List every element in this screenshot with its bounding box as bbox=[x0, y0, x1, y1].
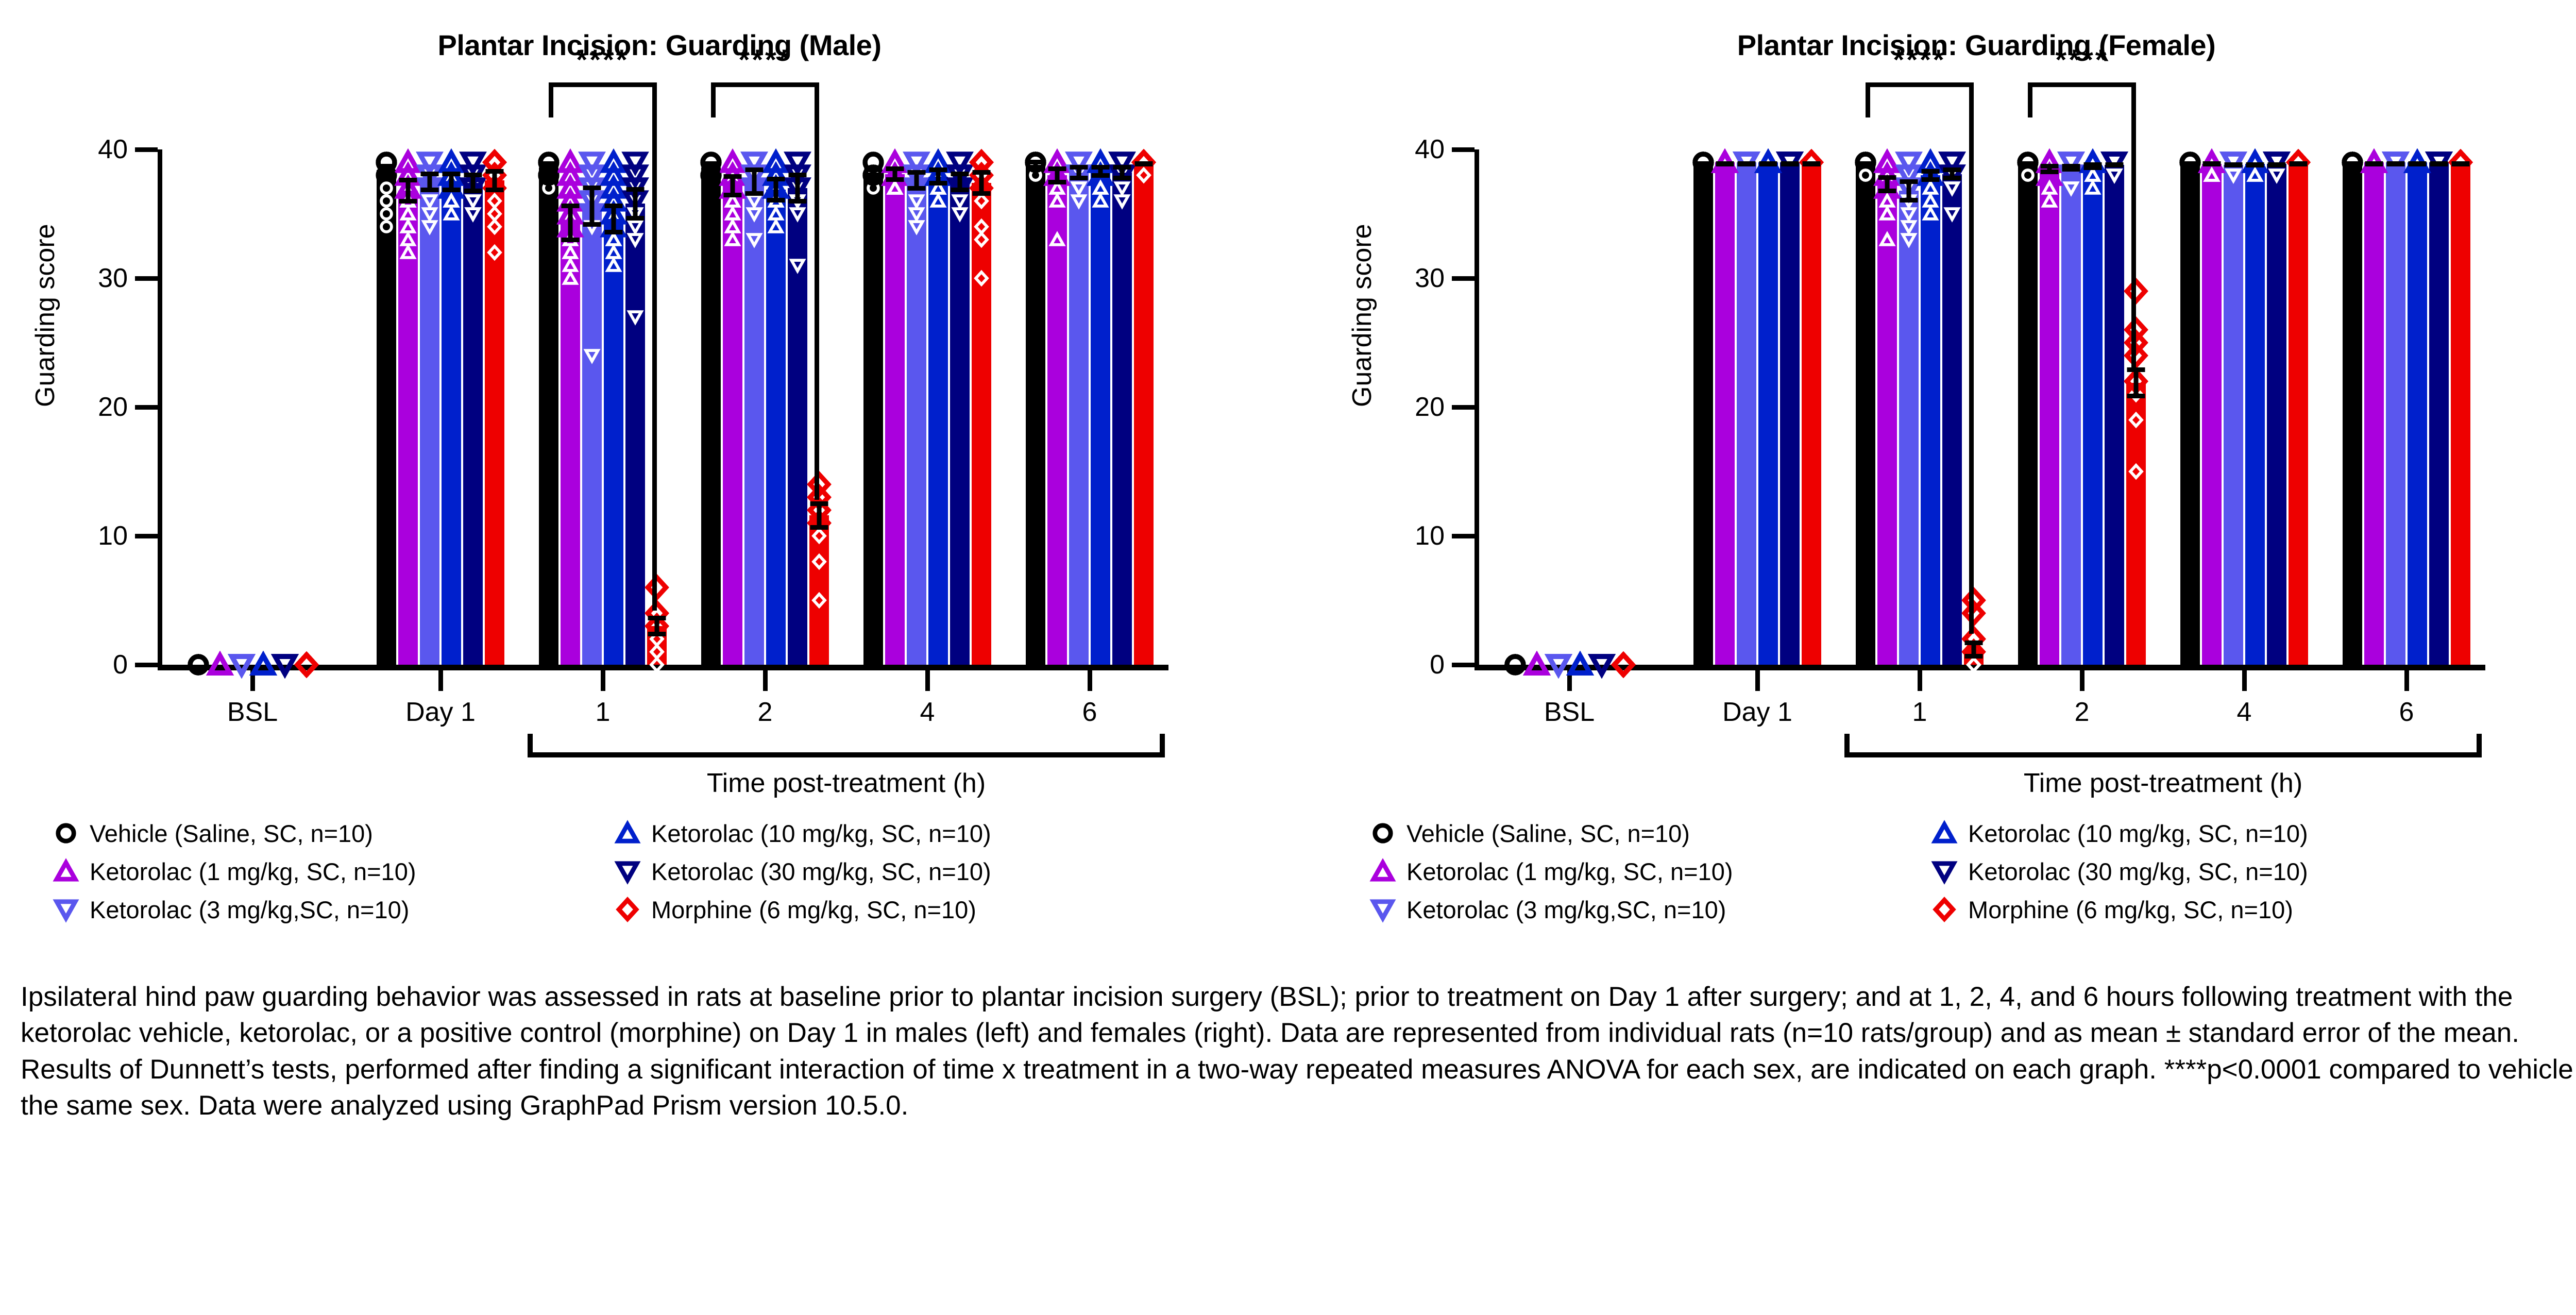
data-point bbox=[466, 207, 480, 221]
bar-fill bbox=[723, 186, 742, 665]
bar-fill bbox=[1112, 173, 1132, 665]
data-point bbox=[380, 220, 393, 233]
y-axis-tick bbox=[135, 405, 158, 410]
bar bbox=[1091, 149, 1110, 665]
bar bbox=[1614, 149, 1633, 665]
data-point bbox=[975, 233, 988, 246]
legend-item[interactable]: Vehicle (Saline, SC, n=10) bbox=[52, 814, 416, 852]
bar bbox=[297, 149, 316, 665]
significance-bracket-leg-left bbox=[711, 82, 716, 117]
bar bbox=[1737, 149, 1756, 665]
x-axis-tick bbox=[925, 670, 930, 691]
data-point bbox=[1050, 194, 1064, 208]
bracket-bar bbox=[1844, 752, 2482, 757]
x-axis-tick-label: 6 bbox=[2399, 697, 2414, 728]
bar bbox=[788, 149, 807, 665]
y-axis-tick bbox=[135, 663, 158, 667]
data-point bbox=[629, 233, 642, 246]
error-bar bbox=[2437, 161, 2442, 166]
bar-fill bbox=[2408, 162, 2427, 665]
bar bbox=[1856, 149, 1875, 665]
legend-column: Ketorolac (10 mg/kg, SC, n=10)Ketorolac … bbox=[613, 814, 991, 929]
bar bbox=[2040, 149, 2059, 665]
error-bar bbox=[1055, 166, 1060, 184]
legend-item-label: Vehicle (Saline, SC, n=10) bbox=[1406, 819, 1690, 848]
error-bar bbox=[1863, 161, 1868, 166]
y-axis-tick-label: 0 bbox=[1362, 649, 1445, 680]
data-point bbox=[1902, 207, 1916, 221]
data-point bbox=[726, 233, 739, 246]
significance-bracket-bar bbox=[2028, 82, 2136, 87]
data-point bbox=[466, 194, 480, 208]
data-point bbox=[1945, 181, 1959, 195]
bar bbox=[1715, 149, 1735, 665]
x-axis-tick-label: 2 bbox=[758, 697, 773, 728]
error-bar bbox=[2253, 162, 2258, 167]
y-axis-tick-label: 0 bbox=[45, 649, 128, 680]
data-point bbox=[953, 194, 967, 208]
diamond-open-icon bbox=[613, 899, 642, 920]
bar-fill bbox=[2040, 169, 2059, 665]
figure-caption: Ipsilateral hind paw guarding behavior w… bbox=[21, 979, 2576, 1124]
x-axis-tick-label: 1 bbox=[596, 697, 611, 728]
bar-fill bbox=[928, 177, 948, 665]
bar bbox=[2202, 149, 2222, 665]
bar-fill bbox=[2451, 162, 2470, 665]
x-axis-tick-label: 4 bbox=[2237, 697, 2252, 728]
significance-bracket-leg-right bbox=[815, 82, 819, 500]
bar-fill bbox=[863, 173, 883, 665]
data-point bbox=[401, 246, 415, 259]
error-bar bbox=[471, 173, 476, 193]
legend-item-label: Ketorolac (10 mg/kg, SC, n=10) bbox=[651, 819, 991, 848]
data-point bbox=[2064, 181, 2078, 195]
significance-stars: **** bbox=[711, 45, 819, 74]
data-point bbox=[953, 207, 967, 221]
bar bbox=[1527, 149, 1547, 665]
legend-item[interactable]: Morphine (6 mg/kg, SC, n=10) bbox=[613, 890, 991, 929]
legend-item-label: Ketorolac (1 mg/kg, SC, n=10) bbox=[90, 857, 416, 886]
bar-fill bbox=[2224, 165, 2243, 665]
bar bbox=[2289, 149, 2308, 665]
error-bar bbox=[2112, 162, 2117, 167]
bar bbox=[1877, 149, 1897, 665]
bar-fill bbox=[744, 182, 764, 665]
bar bbox=[1134, 149, 1154, 665]
error-bar bbox=[1809, 161, 1814, 166]
bar-fill bbox=[1877, 184, 1897, 665]
bar-fill bbox=[2364, 162, 2384, 665]
bar-fill bbox=[1069, 173, 1089, 665]
bar bbox=[885, 149, 905, 665]
bar-fill bbox=[1737, 162, 1756, 665]
data-point bbox=[1591, 654, 1613, 676]
error-bar bbox=[914, 170, 919, 191]
error-bar bbox=[1788, 161, 1792, 166]
data-point bbox=[2205, 168, 2218, 182]
y-axis-tick bbox=[135, 147, 158, 152]
bar-fill bbox=[1921, 175, 1940, 665]
error-bar bbox=[2394, 161, 2398, 166]
data-point bbox=[1548, 654, 1569, 676]
data-point bbox=[1902, 220, 1916, 233]
significance-bracket-leg-left bbox=[1866, 82, 1870, 117]
bar-fill bbox=[1802, 162, 1821, 665]
error-bar bbox=[2091, 162, 2095, 170]
legend-item[interactable]: Ketorolac (30 mg/kg, SC, n=10) bbox=[613, 852, 991, 890]
data-point bbox=[564, 272, 577, 285]
bar-fill bbox=[950, 182, 970, 665]
bar-fill bbox=[1091, 172, 1110, 665]
legend-item-label: Ketorolac (30 mg/kg, SC, n=10) bbox=[651, 857, 991, 886]
bar-fill bbox=[2180, 162, 2200, 665]
data-point bbox=[423, 220, 436, 233]
data-point bbox=[296, 654, 317, 676]
error-bar bbox=[795, 173, 800, 204]
data-point bbox=[2086, 181, 2099, 195]
significance-stars: **** bbox=[1866, 45, 1974, 74]
bar bbox=[2429, 149, 2449, 665]
x-axis-tick bbox=[763, 670, 768, 691]
bar bbox=[2083, 149, 2103, 665]
error-bar bbox=[590, 186, 595, 227]
y-axis-tick-label: 10 bbox=[45, 520, 128, 551]
bar bbox=[604, 149, 623, 665]
bar bbox=[907, 149, 926, 665]
bar bbox=[232, 149, 251, 665]
bracket-bar bbox=[528, 752, 1165, 757]
bar-fill bbox=[2267, 164, 2286, 665]
bar-fill bbox=[907, 180, 926, 665]
error-bar bbox=[655, 616, 659, 636]
bar-fill bbox=[2429, 162, 2449, 665]
legend-column: Vehicle (Saline, SC, n=10)Ketorolac (1 m… bbox=[52, 814, 416, 929]
bar-fill bbox=[1693, 162, 1713, 665]
bar bbox=[463, 149, 483, 665]
bar-fill bbox=[1856, 164, 1875, 665]
data-point bbox=[2125, 345, 2147, 366]
x-axis-tick bbox=[1755, 670, 1760, 691]
error-bar bbox=[709, 161, 714, 174]
error-bar bbox=[2275, 162, 2279, 167]
data-point bbox=[975, 194, 988, 208]
error-bar bbox=[817, 501, 822, 530]
data-point bbox=[2021, 168, 2035, 182]
data-point bbox=[1945, 207, 1959, 221]
legend-item-label: Ketorolac (3 mg/kg,SC, n=10) bbox=[90, 896, 409, 924]
data-point bbox=[1115, 181, 1129, 195]
data-point bbox=[888, 181, 902, 195]
bar-fill bbox=[582, 206, 602, 665]
error-bar bbox=[2210, 161, 2214, 166]
bar bbox=[377, 149, 396, 665]
bar bbox=[2061, 149, 2081, 665]
y-axis-tick bbox=[1452, 534, 1475, 538]
chart-title-male: Plantar Incision: Guarding (Male) bbox=[0, 28, 1319, 62]
data-point bbox=[2108, 168, 2121, 182]
error-bar bbox=[493, 169, 497, 192]
error-bar bbox=[2459, 161, 2463, 166]
x-axis-tick bbox=[438, 670, 443, 691]
bar bbox=[2105, 149, 2124, 665]
data-point bbox=[1569, 654, 1591, 676]
figure-root: Plantar Incision: Guarding (Male) 010203… bbox=[0, 0, 2576, 1315]
triangle-up-open-icon bbox=[1930, 823, 1959, 844]
y-axis-tick bbox=[1452, 276, 1475, 281]
error-bar bbox=[633, 187, 638, 221]
bar bbox=[625, 149, 645, 665]
bar bbox=[539, 149, 558, 665]
error-bar bbox=[1972, 640, 1976, 659]
legend-item-label: Morphine (6 mg/kg, SC, n=10) bbox=[651, 896, 976, 924]
bar bbox=[744, 149, 764, 665]
plot-area-female: 010203040BSLDay 11246******** bbox=[1475, 149, 2474, 665]
significance-bracket-leg-right bbox=[2131, 82, 2136, 367]
significance-stars: **** bbox=[2028, 45, 2136, 74]
error-bar bbox=[1120, 165, 1125, 180]
triangle-up-open-icon bbox=[613, 823, 642, 844]
legend-female: Vehicle (Saline, SC, n=10)Ketorolac (1 m… bbox=[1368, 814, 2576, 938]
data-point bbox=[252, 654, 274, 676]
significance-bracket-bar bbox=[711, 82, 819, 87]
data-point bbox=[910, 220, 923, 233]
data-point bbox=[1859, 168, 1872, 182]
bar bbox=[972, 149, 991, 665]
data-point bbox=[1050, 233, 1064, 246]
legend-item[interactable]: Ketorolac (3 mg/kg,SC, n=10) bbox=[52, 890, 416, 929]
error-bar bbox=[449, 172, 454, 192]
error-bar bbox=[774, 177, 778, 203]
bar-fill bbox=[398, 191, 418, 665]
bar bbox=[1592, 149, 1612, 665]
data-point bbox=[380, 194, 393, 208]
circle-open-icon bbox=[52, 823, 80, 844]
x-axis-tick bbox=[1918, 670, 1922, 691]
y-axis-tick bbox=[135, 276, 158, 281]
significance-bracket-leg-right bbox=[1969, 82, 1974, 634]
x-axis-tick-label: 1 bbox=[1912, 697, 1927, 728]
y-axis-tick-label: 40 bbox=[45, 134, 128, 165]
bar-fill bbox=[1134, 162, 1154, 665]
error-bar bbox=[1723, 161, 1727, 166]
x-axis-tick bbox=[1088, 670, 1092, 691]
bar bbox=[1693, 149, 1713, 665]
bar-fill bbox=[2018, 164, 2038, 665]
data-point bbox=[1613, 654, 1634, 676]
significance-stars: **** bbox=[549, 45, 657, 74]
bar-fill bbox=[463, 183, 483, 665]
data-point bbox=[423, 207, 436, 221]
legend-item[interactable]: Ketorolac (1 mg/kg, SC, n=10) bbox=[1368, 852, 1733, 890]
y-axis-tick bbox=[1452, 663, 1475, 667]
data-point bbox=[769, 220, 783, 233]
bar bbox=[1921, 149, 1940, 665]
legend-column: Ketorolac (10 mg/kg, SC, n=10)Ketorolac … bbox=[1930, 814, 2308, 929]
error-bar bbox=[1744, 161, 1749, 166]
bar bbox=[189, 149, 208, 665]
bar-fill bbox=[1942, 174, 1962, 665]
data-point bbox=[1072, 181, 1086, 195]
bar bbox=[442, 149, 461, 665]
data-point bbox=[2125, 280, 2147, 302]
y-axis-line bbox=[158, 149, 162, 665]
bar bbox=[561, 149, 580, 665]
x-axis-tick-label: 4 bbox=[920, 697, 935, 728]
data-point bbox=[812, 555, 826, 568]
data-point bbox=[1924, 207, 1937, 221]
data-point bbox=[188, 654, 209, 676]
error-bar bbox=[1950, 167, 1955, 180]
data-point bbox=[650, 658, 664, 671]
bar bbox=[210, 149, 230, 665]
data-point bbox=[791, 259, 804, 272]
legend-item[interactable]: Ketorolac (30 mg/kg, SC, n=10) bbox=[1930, 852, 2308, 890]
data-point bbox=[1880, 233, 1894, 246]
data-point bbox=[2129, 413, 2143, 427]
legend-item[interactable]: Ketorolac (10 mg/kg, SC, n=10) bbox=[613, 814, 991, 852]
plot-area-male: 010203040BSLDay 11246******** bbox=[158, 149, 1157, 665]
data-point bbox=[488, 246, 501, 259]
bar bbox=[2126, 149, 2146, 665]
bar bbox=[2224, 149, 2243, 665]
bar bbox=[766, 149, 786, 665]
error-bar bbox=[2296, 161, 2301, 166]
legend-item[interactable]: Vehicle (Saline, SC, n=10) bbox=[1368, 814, 1733, 852]
error-bar bbox=[1077, 165, 1081, 180]
legend-item[interactable]: Morphine (6 mg/kg, SC, n=10) bbox=[1930, 890, 2308, 929]
y-axis-line bbox=[1475, 149, 1479, 665]
bar-fill bbox=[1780, 162, 1800, 665]
error-bar bbox=[979, 170, 984, 196]
error-bar bbox=[2350, 161, 2355, 166]
triangle-down-open-icon bbox=[1930, 861, 1959, 882]
data-point bbox=[812, 529, 826, 543]
error-bar bbox=[1033, 160, 1038, 170]
bar bbox=[1549, 149, 1568, 665]
error-bar bbox=[871, 166, 876, 179]
bar bbox=[275, 149, 295, 665]
error-bar bbox=[2069, 164, 2074, 172]
data-point bbox=[2248, 168, 2262, 182]
bar bbox=[1802, 149, 1821, 665]
bar bbox=[1069, 149, 1089, 665]
data-point bbox=[812, 594, 826, 607]
bar bbox=[253, 149, 273, 665]
bar-fill bbox=[2061, 167, 2081, 665]
y-axis-tick bbox=[135, 534, 158, 538]
data-point bbox=[209, 654, 231, 676]
bar-fill bbox=[885, 174, 905, 665]
bar bbox=[1964, 149, 1984, 665]
legend-item-label: Vehicle (Saline, SC, n=10) bbox=[90, 819, 373, 848]
x-axis-tick-label: Day 1 bbox=[1722, 697, 1792, 728]
data-point bbox=[629, 310, 642, 324]
data-point bbox=[1963, 602, 1985, 624]
error-bar bbox=[1907, 179, 1911, 203]
error-bar bbox=[1766, 161, 1771, 166]
x-group-bracket-female bbox=[1844, 732, 2482, 757]
error-bar bbox=[2188, 161, 2193, 166]
bar-fill bbox=[625, 204, 645, 665]
bar-fill bbox=[1899, 191, 1919, 665]
data-point bbox=[2227, 168, 2240, 182]
error-bar bbox=[406, 178, 411, 204]
bar-fill bbox=[1715, 162, 1735, 665]
x-axis-tick bbox=[2080, 670, 2084, 691]
bar-fill bbox=[2083, 166, 2103, 665]
bar bbox=[723, 149, 742, 665]
panel-female: Plantar Incision: Guarding (Female) 0102… bbox=[1317, 0, 2576, 958]
error-bar bbox=[1928, 169, 1933, 182]
error-bar bbox=[1885, 175, 1890, 193]
x-axis-tick bbox=[2242, 670, 2247, 691]
data-point bbox=[1094, 194, 1107, 208]
bar-fill bbox=[766, 190, 786, 665]
bar bbox=[1047, 149, 1067, 665]
x-axis-tick-label: 2 bbox=[2075, 697, 2090, 728]
legend-item[interactable]: Ketorolac (3 mg/kg,SC, n=10) bbox=[1368, 890, 1733, 929]
legend-item-label: Ketorolac (30 mg/kg, SC, n=10) bbox=[1968, 857, 2308, 886]
bar bbox=[582, 149, 602, 665]
error-bar bbox=[752, 167, 757, 196]
bar-fill bbox=[1758, 162, 1778, 665]
x-group-bracket-male bbox=[528, 732, 1165, 757]
x-axis-tick-label: Day 1 bbox=[405, 697, 476, 728]
data-point bbox=[2270, 168, 2283, 182]
bar-fill bbox=[420, 182, 439, 665]
bar-fill bbox=[972, 183, 991, 665]
x-axis-tick-label: BSL bbox=[1544, 697, 1595, 728]
bar bbox=[1899, 149, 1919, 665]
data-point bbox=[2043, 194, 2056, 208]
data-point bbox=[1967, 658, 1980, 671]
x-axis-tick bbox=[2404, 670, 2409, 691]
y-axis-label-male: Guarding score bbox=[30, 224, 61, 407]
bar bbox=[485, 149, 504, 665]
data-point bbox=[791, 207, 804, 221]
data-point bbox=[445, 207, 458, 221]
data-point bbox=[380, 207, 393, 221]
bar bbox=[2018, 149, 2038, 665]
data-point bbox=[1902, 233, 1916, 246]
bar-fill bbox=[2105, 165, 2124, 665]
error-bar bbox=[428, 172, 432, 192]
data-point bbox=[1504, 654, 1526, 676]
triangle-up-open-icon bbox=[1368, 861, 1397, 882]
data-point bbox=[607, 259, 620, 272]
bar-fill bbox=[377, 170, 396, 665]
x-axis-tick-label: 6 bbox=[1082, 697, 1097, 728]
legend-item-label: Ketorolac (3 mg/kg,SC, n=10) bbox=[1406, 896, 1726, 924]
data-point bbox=[231, 654, 252, 676]
data-point bbox=[423, 194, 436, 208]
bar-fill bbox=[1026, 165, 1045, 665]
error-bar bbox=[2231, 162, 2236, 167]
significance-bracket-leg-left bbox=[2028, 82, 2032, 117]
significance-bracket-bar bbox=[549, 82, 657, 87]
legend-item[interactable]: Ketorolac (1 mg/kg, SC, n=10) bbox=[52, 852, 416, 890]
bar bbox=[809, 149, 829, 665]
x-axis-tick bbox=[601, 670, 605, 691]
bar-fill bbox=[2245, 164, 2265, 665]
error-bar bbox=[547, 161, 551, 174]
data-point bbox=[488, 220, 501, 233]
legend-item[interactable]: Ketorolac (10 mg/kg, SC, n=10) bbox=[1930, 814, 2308, 852]
bar bbox=[863, 149, 883, 665]
data-point bbox=[910, 207, 923, 221]
error-bar bbox=[384, 164, 389, 177]
bar bbox=[950, 149, 970, 665]
